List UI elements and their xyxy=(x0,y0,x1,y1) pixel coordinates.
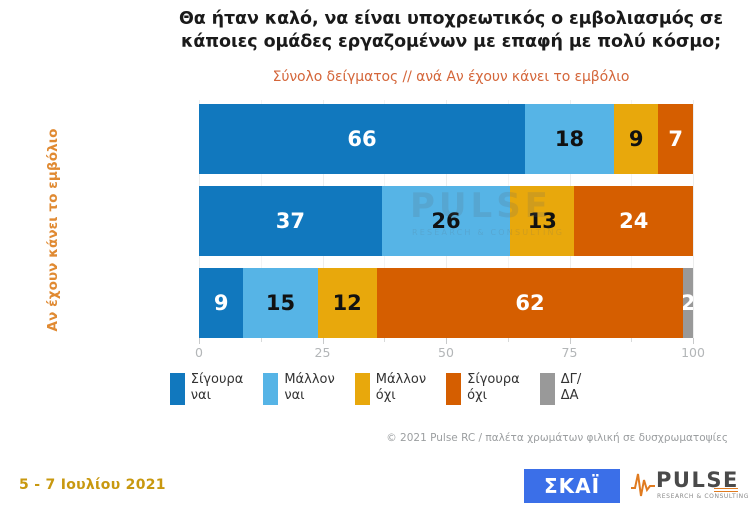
page-title: Θα ήταν καλό, να είναι υποχρεωτικός ο εμ… xyxy=(166,8,736,55)
bar-segment[interactable]: 24 xyxy=(574,186,693,256)
bar-value-label: 62 xyxy=(515,291,544,315)
bar-segment[interactable]: 9 xyxy=(614,104,658,174)
bar-segment[interactable]: 18 xyxy=(525,104,614,174)
bar-segment[interactable]: 66 xyxy=(199,104,525,174)
plot-area: 6618973726132491512622 xyxy=(199,100,693,338)
date-range: 5 - 7 Ιουλίου 2021 xyxy=(19,477,166,493)
legend: Σίγουρα ναιΜάλλον ναιΜάλλον όχιΣίγουρα ό… xyxy=(0,372,751,405)
pulse-logo-subtitle: RESEARCH & CONSULTING xyxy=(657,493,749,500)
bar-segment[interactable]: 9 xyxy=(199,268,243,338)
legend-item[interactable]: Σίγουρα ναι xyxy=(170,372,244,405)
bar-segment[interactable]: 13 xyxy=(510,186,574,256)
skai-logo: ΣΚΑΪ xyxy=(524,469,620,503)
axis-tick-major xyxy=(323,338,324,344)
chart-canvas: Θα ήταν καλό, να είναι υποχρεωτικός ο εμ… xyxy=(0,0,751,516)
axis-tick-major xyxy=(446,338,447,344)
legend-item[interactable]: Μάλλον ναι xyxy=(263,372,334,405)
legend-swatch xyxy=(355,373,370,405)
gridline-major xyxy=(693,100,694,338)
legend-label: Μάλλον όχι xyxy=(376,372,426,404)
legend-label: Σίγουρα ναι xyxy=(191,372,244,404)
legend-item[interactable]: Σίγουρα όχι xyxy=(446,372,520,405)
pulse-waveform-icon xyxy=(630,466,656,506)
x-axis-tick-label: 100 xyxy=(681,345,705,360)
title-line-2: κάποιες ομάδες εργαζομένων με επαφή με π… xyxy=(166,31,736,54)
bar-value-label: 7 xyxy=(668,127,683,151)
bar-value-label: 12 xyxy=(333,291,362,315)
bar-value-label: 2 xyxy=(683,291,693,315)
legend-label: Μάλλον ναι xyxy=(284,372,334,404)
bar-value-label: 37 xyxy=(276,209,305,233)
bar-value-label: 13 xyxy=(528,209,557,233)
bar-value-label: 24 xyxy=(619,209,648,233)
legend-label: Σίγουρα όχι xyxy=(467,372,520,404)
pulse-logo: PULSE RESEARCH & CONSULTING xyxy=(630,466,738,506)
bar-segment[interactable]: 37 xyxy=(199,186,382,256)
axis-tick-minor xyxy=(631,338,632,342)
x-axis: 0255075100 xyxy=(199,338,693,364)
axis-tick-minor xyxy=(508,338,509,342)
title-line-1: Θα ήταν καλό, να είναι υποχρεωτικός ο εμ… xyxy=(179,9,723,29)
pulse-rule-bottom xyxy=(714,491,738,492)
bar-row[interactable]: 37261324 xyxy=(199,186,693,256)
legend-item[interactable]: Μάλλον όχι xyxy=(355,372,426,405)
y-axis-title: Αν έχουν κάνει το εμβόλιο xyxy=(45,105,61,355)
legend-swatch xyxy=(540,373,555,405)
bar-segment[interactable]: 15 xyxy=(243,268,317,338)
x-axis-tick-label: 75 xyxy=(562,345,578,360)
pulse-rule-top xyxy=(714,488,738,489)
bar-segment[interactable]: 62 xyxy=(377,268,683,338)
bar-value-label: 26 xyxy=(431,209,460,233)
chart-subtitle: Σύνολο δείγματος // ανά Αν έχουν κάνει τ… xyxy=(166,69,736,85)
bar-row[interactable]: 661897 xyxy=(199,104,693,174)
bar-segment[interactable]: 7 xyxy=(658,104,693,174)
axis-tick-major xyxy=(570,338,571,344)
legend-item[interactable]: ΔΓ/ ΔΑ xyxy=(540,372,582,405)
bar-value-label: 9 xyxy=(629,127,644,151)
legend-swatch xyxy=(263,373,278,405)
axis-tick-minor xyxy=(384,338,385,342)
bar-value-label: 18 xyxy=(555,127,584,151)
x-axis-tick-label: 0 xyxy=(195,345,203,360)
axis-tick-major xyxy=(693,338,694,344)
x-axis-tick-label: 50 xyxy=(438,345,454,360)
bar-value-label: 15 xyxy=(266,291,295,315)
bar-row[interactable]: 91512622 xyxy=(199,268,693,338)
legend-swatch xyxy=(170,373,185,405)
bar-segment[interactable]: 2 xyxy=(683,268,693,338)
axis-tick-minor xyxy=(261,338,262,342)
axis-tick-major xyxy=(199,338,200,344)
bar-segment[interactable]: 12 xyxy=(318,268,377,338)
skai-logo-text: ΣΚΑΪ xyxy=(544,474,600,498)
legend-label: ΔΓ/ ΔΑ xyxy=(561,372,582,404)
bar-value-label: 9 xyxy=(214,291,229,315)
bar-segment[interactable]: 26 xyxy=(382,186,510,256)
copyright-note: © 2021 Pulse RC / παλέτα χρωμάτων φιλική… xyxy=(386,432,728,444)
x-axis-tick-label: 25 xyxy=(315,345,331,360)
bar-value-label: 66 xyxy=(347,127,376,151)
legend-swatch xyxy=(446,373,461,405)
